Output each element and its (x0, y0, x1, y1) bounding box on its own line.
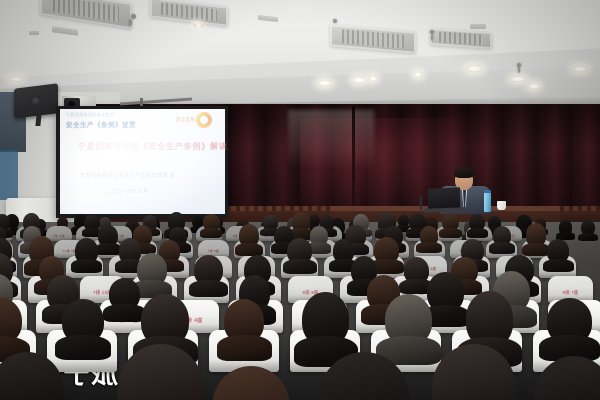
audience-member (239, 224, 260, 247)
orange-swirl-icon (196, 112, 212, 128)
slide-header-top: 宁夏回族自治区安全生产 (66, 112, 114, 118)
water-bottle-icon (484, 192, 491, 212)
seat-number: 9排 7座 (548, 290, 593, 296)
audience-member (559, 220, 573, 235)
audience-member (302, 292, 349, 346)
seat-number: 7排 10座 (46, 234, 72, 238)
slide-subtitle: 二〇一六年三月 (110, 188, 149, 195)
downlight-icon (317, 80, 332, 86)
sprinkler-stem (431, 34, 433, 41)
slide-header: 安全生产《条例》宣贯 (66, 119, 136, 129)
audience-member (404, 257, 429, 284)
ceiling-vent-icon (29, 31, 39, 35)
audience-member (442, 213, 459, 231)
audience-member (581, 220, 595, 236)
microphone-icon (420, 196, 422, 210)
audience-member (203, 214, 219, 231)
downlight-icon (528, 83, 540, 89)
presenter-hair (454, 167, 474, 178)
audience-member (287, 238, 312, 264)
audience-member (98, 225, 118, 247)
audience-member (292, 212, 310, 232)
downlight-icon (194, 23, 203, 28)
audience-member (224, 299, 264, 344)
ceiling-vent-icon (470, 24, 486, 29)
audience-member (62, 299, 103, 343)
sprinkler-stem (518, 66, 520, 73)
downlight-icon (572, 66, 588, 72)
audience-member (385, 294, 433, 345)
audience-member (109, 278, 140, 310)
downlight-icon (8, 76, 24, 82)
audience-member (420, 226, 439, 245)
sprinkler-stem (129, 19, 132, 26)
audience-member (310, 226, 329, 247)
slide-title: 宁夏回族自治区《安全生产条例》解读 (78, 141, 228, 152)
audience-member (547, 298, 592, 344)
screenshot-root: 宁夏回族自治区安全生产 安全生产《条例》宣贯 宁夏回族自治区《安全生产条例》解读… (0, 0, 600, 400)
paper-cup-icon (497, 201, 506, 210)
audience-member (526, 223, 546, 247)
seat-number: 7排 8座 (198, 249, 229, 253)
sprinkler-icon (333, 19, 337, 23)
audience-member (374, 237, 399, 264)
audience-member (119, 238, 141, 263)
audience-member (493, 226, 512, 246)
audience-member (547, 239, 570, 263)
downlight-icon (466, 65, 483, 72)
downlight-icon (352, 77, 366, 83)
curtain-highlight (288, 110, 374, 180)
bottle-cap (484, 190, 491, 193)
audience-member (263, 215, 278, 230)
downlight-icon (510, 76, 526, 82)
audience-member (75, 238, 98, 263)
audience-member (469, 214, 485, 232)
audience-member (84, 215, 99, 231)
audience-member (137, 253, 167, 286)
downlight-icon (414, 72, 422, 77)
audience-member (466, 291, 514, 346)
sprinkler-icon (131, 14, 136, 19)
slide-logo-label: 安全监管 (176, 117, 195, 123)
audience-member (398, 215, 409, 227)
speaker-cone-icon (30, 95, 41, 106)
slide-body-text: 宁夏回族自治区安全生产监督管理局 宣 (80, 172, 175, 179)
downlight-icon (369, 76, 377, 81)
audience-member (333, 239, 355, 263)
audience-member (194, 255, 222, 285)
audience-member (141, 294, 189, 346)
audience-member (427, 272, 463, 312)
left-wall-blue-band (0, 150, 18, 200)
